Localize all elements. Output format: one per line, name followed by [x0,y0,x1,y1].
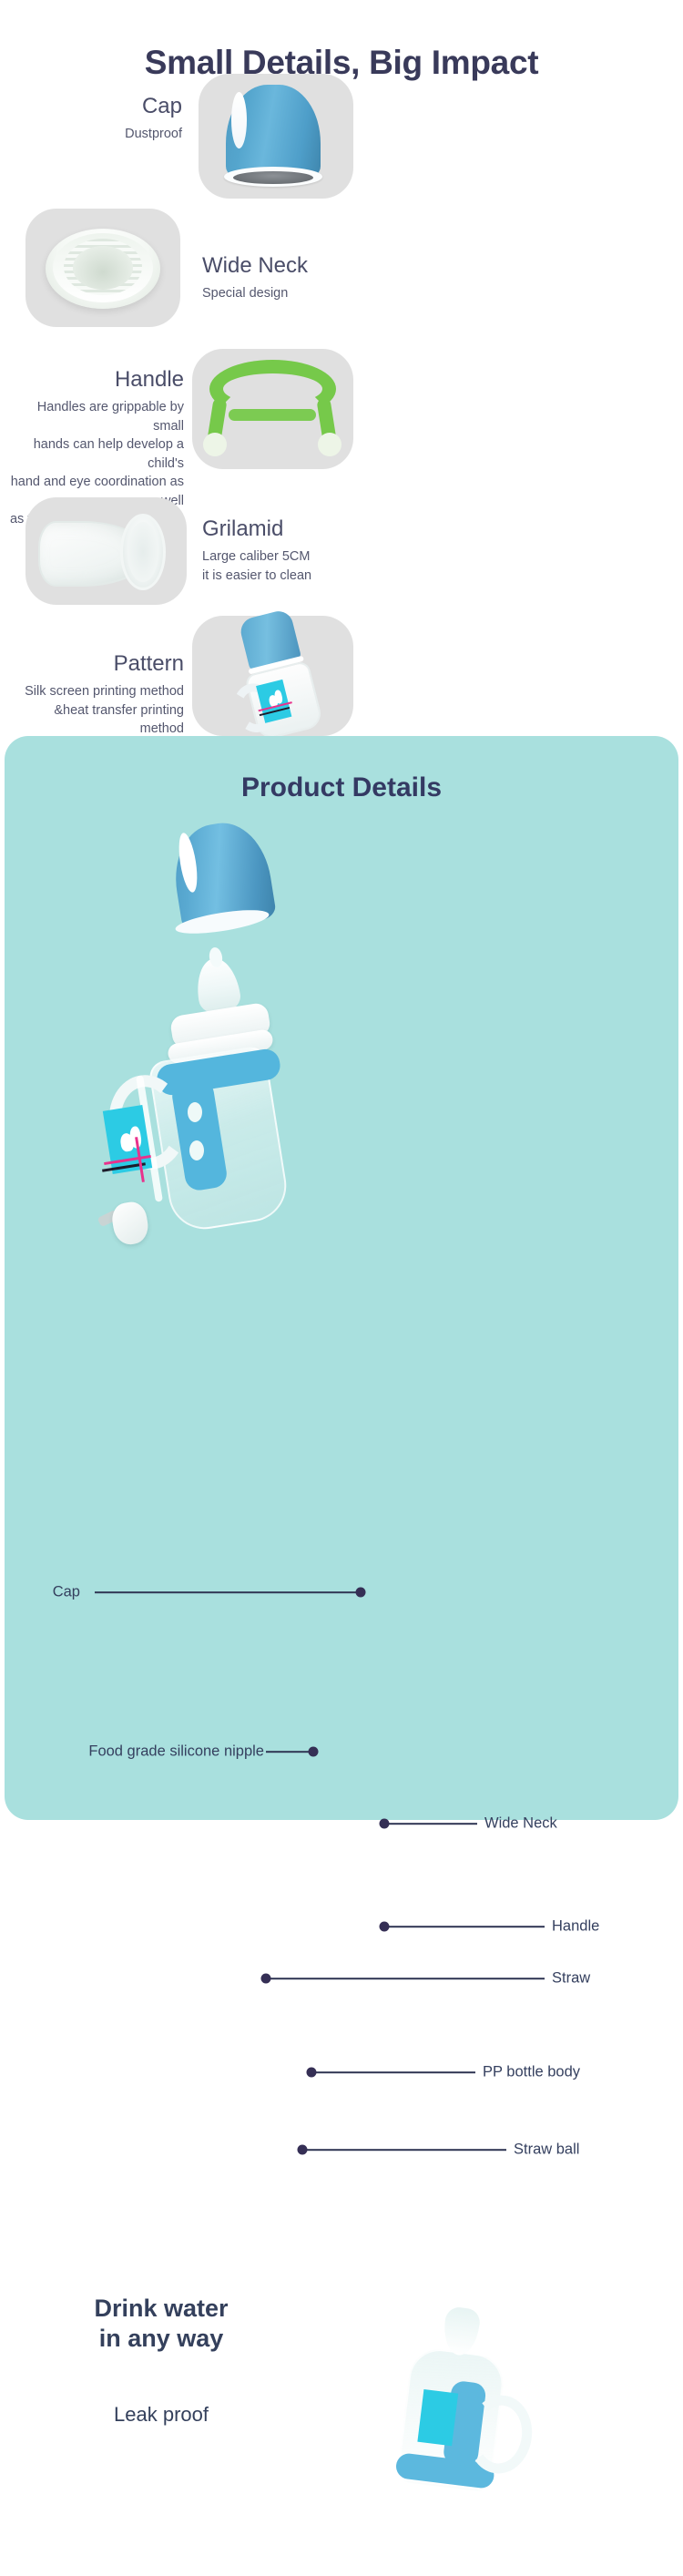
feature-title-cap: Cap [18,93,182,120]
callout-label-pp-bottle-body: PP bottle body [483,2064,580,2081]
callout-leader-line [315,2071,475,2073]
callout-label-cap: Cap [53,1584,80,1601]
product-detail-page: Small Details, Big Impact Cap Dustproof … [0,0,683,2576]
feature-subtitle-wide-neck: Special design [202,284,403,303]
callout-dot [356,1588,366,1598]
callout-cap: Cap [36,1583,364,1601]
grilamid-bottle-photo [25,497,187,605]
callout-dot [307,2068,317,2078]
wide-neck-photo-box [25,209,180,327]
inverted-bottle-sticker [417,2389,458,2446]
feature-title-pattern: Pattern [9,650,184,678]
callout-dot [298,2145,308,2155]
cap-photo-box [199,74,353,199]
handle-photo-box [192,349,353,469]
callout-leader-line [306,2149,506,2151]
callout-label-nipple: Food grade silicone nipple [88,1743,264,1761]
callout-label-straw: Straw [552,1970,590,1988]
feature-title-grilamid: Grilamid [202,516,403,543]
feature-title-handle: Handle [9,366,184,394]
callout-straw-ball: Straw ball [301,2141,619,2159]
feature-text-wide-neck: Wide Neck Special design [202,252,403,303]
callout-leader-line [388,1823,477,1825]
bottle-cap-photo [199,74,353,199]
callout-label-straw-ball: Straw ball [514,2142,579,2159]
callout-nipple: Food grade silicone nipple [36,1743,319,1761]
product-details-title: Product Details [5,772,678,803]
feature-subtitle-grilamid: Large caliber 5CM it is easier to clean [202,547,403,585]
bottom-headline-line-2: in any way [56,2324,266,2354]
feature-text-cap: Cap Dustproof [18,93,182,144]
exploded-bottle-diagram [0,802,683,1558]
callout-leader-line [388,1926,545,1927]
pattern-sub-line-2: &heat transfer printing method [9,701,184,739]
grilamid-photo-box [25,497,187,605]
handle-sub-line-1: Handles are grippable by small [9,398,184,435]
grilamid-sub-line-1: Large caliber 5CM [202,547,403,567]
callout-handle: Handle [382,1917,610,1936]
bottom-headline: Drink water in any way [56,2294,266,2354]
callout-dot [380,1819,390,1829]
callout-dot [261,1974,271,1984]
feature-text-grilamid: Grilamid Large caliber 5CM it is easier … [202,516,403,585]
wide-neck-ring-photo [25,209,180,327]
patterned-bottle-photo [203,592,344,760]
callout-leader-line [270,1978,545,1979]
callout-dot [380,1922,390,1932]
callout-label-wide-neck: Wide Neck [484,1815,557,1833]
handle-sub-line-2: hands can help develop a child's [9,435,184,473]
feature-subtitle-cap: Dustproof [18,125,182,144]
feature-title-wide-neck: Wide Neck [202,252,403,280]
callout-wide-neck: Wide Neck [382,1814,610,1833]
callout-straw: Straw [264,1969,610,1988]
callout-label-handle: Handle [552,1918,599,1936]
grilamid-sub-line-2: it is easier to clean [202,567,403,586]
bottom-headline-line-1: Drink water [56,2294,266,2324]
bottom-subtitle: Leak proof [56,2403,266,2427]
callout-leader-line [95,1591,359,1593]
inverted-bottle-photo [331,2239,563,2535]
callout-leader-line [266,1751,311,1753]
callout-dot [309,1747,319,1757]
pattern-sub-line-1: Silk screen printing method [9,682,184,701]
green-handle-photo [192,349,353,469]
pattern-photo-box [192,616,353,736]
callout-pp-bottle-body: PP bottle body [310,2063,619,2081]
